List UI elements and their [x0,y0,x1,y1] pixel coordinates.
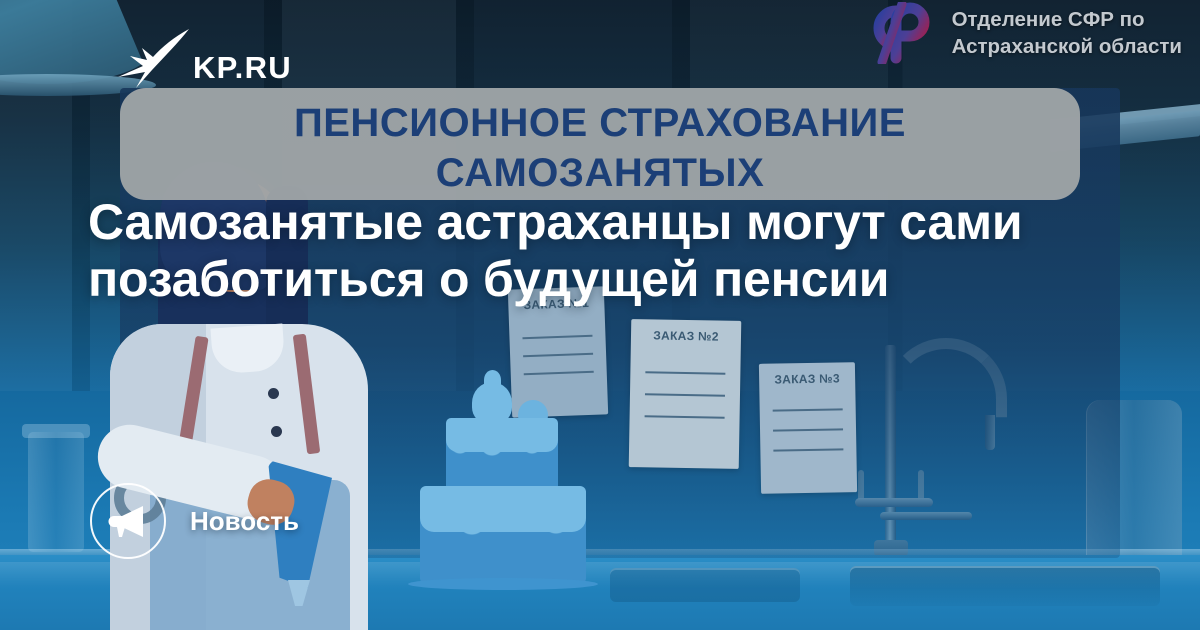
category-label: Новость [190,506,299,537]
megaphone-icon [108,504,148,538]
note-rule [524,353,593,357]
page-title: Самозанятые астраханцы могут сами позабо… [88,194,1038,308]
category-badge[interactable]: Новость [90,483,299,559]
note-rule [645,415,724,418]
swallow-bird-icon[interactable] [112,26,190,96]
order-note: ЗАКАЗ №2 [629,319,742,469]
jacket-button [268,388,279,399]
category-icon-circle [90,483,166,559]
glass-jar [28,432,84,552]
note-rule [773,428,842,431]
cake-stand [408,578,598,590]
partner-name-line2: Астраханской области [952,33,1182,60]
jacket-button [271,426,282,437]
note-rule [523,335,592,339]
cake-bottom-drip [420,520,586,542]
news-share-card: ЗАКАЗ №1 ЗАКАЗ №2 ЗАКАЗ №3 [0,0,1200,630]
partner-name: Отделение СФР по Астраханской области [952,6,1182,60]
note-rule [646,371,725,374]
order-note-label: ЗАКАЗ №3 [759,371,855,387]
brand-name[interactable]: KP.RU [193,50,292,86]
cake-top-drip [446,444,558,460]
partner-name-line1: Отделение СФР по [952,6,1182,33]
note-rule [524,371,593,375]
poster-title-line1: ПЕНСИОННОЕ СТРАХОВАНИЕ [120,100,1080,146]
order-note-label: ЗАКАЗ №2 [631,328,741,344]
partner-block: Отделение СФР по Астраханской области [852,2,1182,64]
sfr-emblem-icon [852,2,938,64]
note-rule [774,448,843,451]
order-note: ЗАКАЗ №3 [759,362,857,494]
poster-title-line2: САМОЗАНЯТЫХ [120,150,1080,196]
note-rule [645,393,724,396]
note-rule [773,408,842,411]
